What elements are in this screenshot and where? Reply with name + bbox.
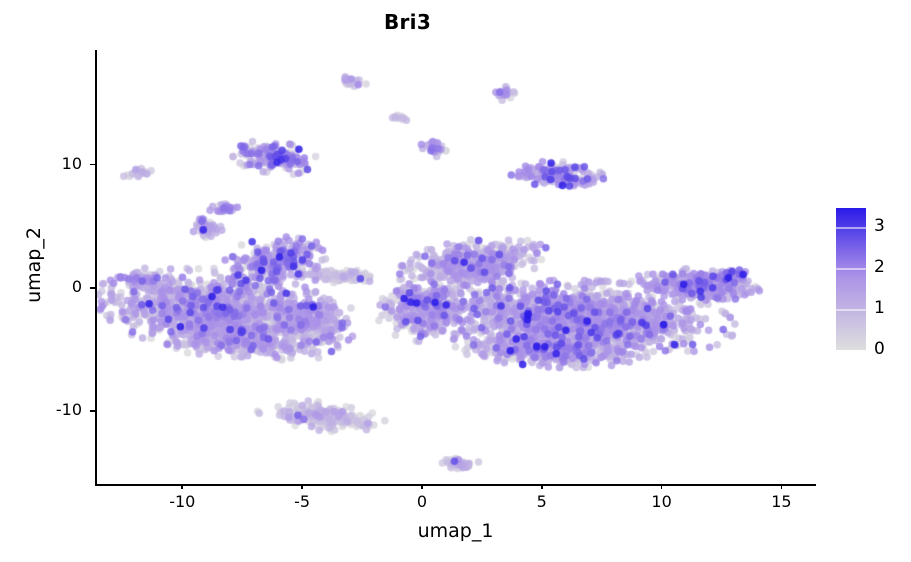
- x-tick-mark: [301, 484, 303, 489]
- x-tick-mark: [181, 484, 183, 489]
- x-tick-mark: [541, 484, 543, 489]
- axis-spine-bottom: [95, 484, 816, 486]
- x-axis-label: umap_1: [96, 520, 815, 542]
- colorbar-tick-label: 3: [874, 216, 885, 236]
- x-tick-label: 10: [627, 492, 697, 511]
- colorbar-tick-label: 1: [874, 298, 885, 318]
- y-axis-label: umap_2: [23, 165, 45, 365]
- colorbar-legend: 0123: [836, 208, 866, 350]
- colorbar-tick-mark: [836, 268, 866, 270]
- plot-axes: -10-5051015 100-10 umap_1 umap_2: [96, 50, 815, 484]
- colorbar-tick-mark: [836, 227, 866, 229]
- x-tick-mark: [661, 484, 663, 489]
- y-tick-label: -10: [22, 400, 82, 419]
- x-tick-label: -5: [267, 492, 337, 511]
- x-tick-mark: [421, 484, 423, 489]
- scatter-plot-canvas: [96, 50, 815, 484]
- page-title: Bri3: [0, 10, 815, 34]
- scatter-canvas-wrap: [96, 50, 815, 484]
- x-tick-label: 5: [507, 492, 577, 511]
- y-tick-mark: [90, 410, 95, 412]
- axis-spine-left: [95, 50, 97, 484]
- colorbar-tick-label: 2: [874, 257, 885, 277]
- colorbar-tick-mark: [836, 309, 866, 311]
- x-tick-label: -10: [147, 492, 217, 511]
- x-tick-label: 15: [746, 492, 816, 511]
- x-tick-mark: [781, 484, 783, 489]
- colorbar-tick-mark: [836, 350, 866, 352]
- figure: Bri3 -10-5051015 100-10 umap_1 umap_2 01…: [0, 0, 911, 562]
- colorbar-tick-label: 0: [874, 339, 885, 359]
- y-tick-mark: [90, 287, 95, 289]
- y-tick-mark: [90, 164, 95, 166]
- x-tick-label: 0: [387, 492, 457, 511]
- colorbar-gradient: [836, 208, 866, 350]
